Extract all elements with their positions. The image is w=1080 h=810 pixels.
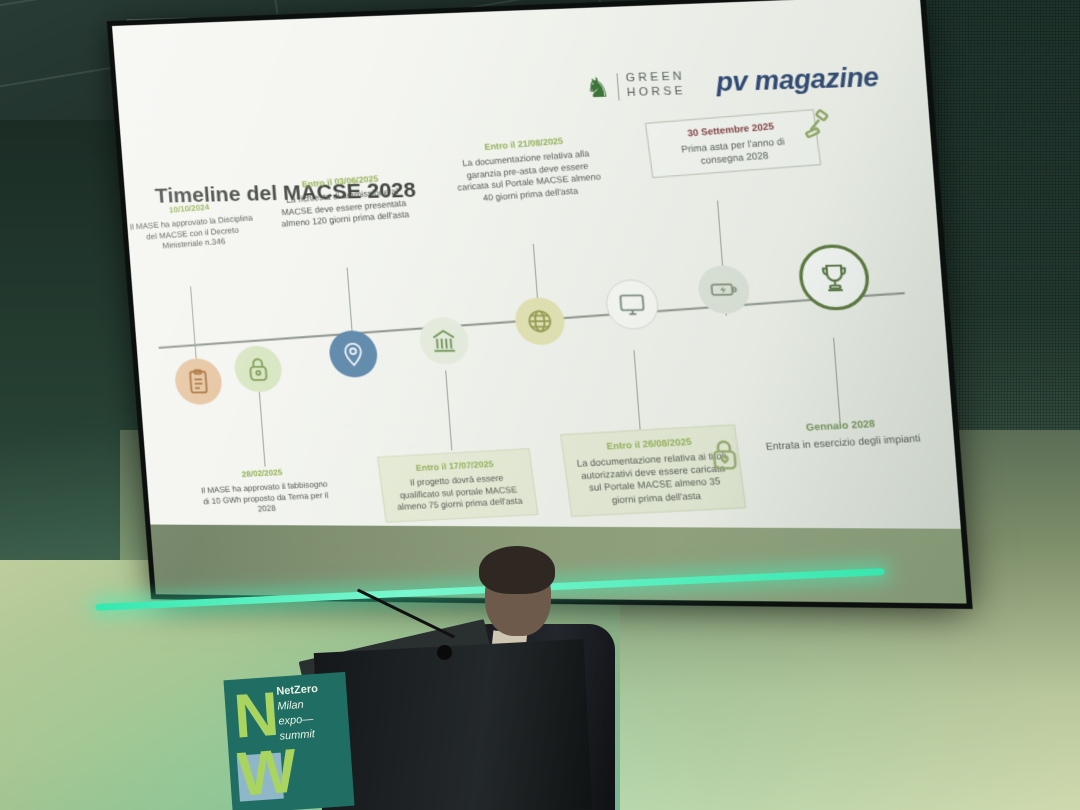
- connector-stem: [833, 338, 841, 425]
- globe-icon: [525, 308, 555, 335]
- projection-screen: ♞ GREEN HORSE pv magazine Timeline del M…: [112, 0, 967, 604]
- event-body: Il progetto dovrà essere qualificato sul…: [397, 473, 523, 512]
- slide-logos: ♞ GREEN HORSE pv magazine: [584, 63, 880, 103]
- event-caption: 30 Settembre 2025 Prima asta per l'anno …: [645, 109, 821, 178]
- podium-logo-panel: N W NetZero Milan expo— summit: [223, 672, 354, 810]
- photo-scene: ♞ GREEN HORSE pv magazine Timeline del M…: [0, 0, 1080, 810]
- podium-wordmark: NetZero Milan expo— summit: [276, 682, 322, 744]
- padlock-icon: [706, 437, 744, 476]
- pv-magazine-logo: pv magazine: [715, 63, 880, 99]
- event-body: Il MASE ha approvato la Disciplina del M…: [129, 213, 253, 251]
- green-horse-logo: ♞ GREEN HORSE: [584, 70, 687, 102]
- connector-stem: [633, 350, 640, 429]
- trophy-icon: [815, 261, 852, 294]
- event-body: La documentazione relativa alla garanzia…: [457, 148, 602, 202]
- location-pin-icon: [339, 341, 368, 368]
- monitor-icon: [617, 291, 647, 318]
- event-caption: Entro il 03/06/2025 La richiesta di ammi…: [268, 170, 418, 231]
- event-body: La richiesta di ammissione al MACSE deve…: [281, 186, 410, 229]
- event-caption: 10/10/2024 Il MASE ha approvato la Disci…: [123, 199, 261, 255]
- event-caption: 28/02/2025 Il MASE ha approvato il fabbi…: [197, 465, 333, 518]
- connector-stem: [190, 286, 197, 358]
- event-caption: Gennaio 2028 Entrata in esercizio degli …: [757, 416, 928, 455]
- timeline-node-location: [328, 330, 379, 377]
- timeline-node-lock: [233, 346, 283, 393]
- slide-canvas: ♞ GREEN HORSE pv magazine Timeline del M…: [112, 0, 961, 529]
- timeline-node-clipboard: [174, 358, 224, 404]
- event-body: Il MASE ha approvato il fabbisogno di 10…: [200, 479, 328, 514]
- green-horse-label: GREEN HORSE: [625, 70, 686, 101]
- event-body: Prima asta per l'anno di consegna 2028: [681, 136, 786, 166]
- podium-letter-w: W: [236, 748, 298, 800]
- battery-icon: [708, 276, 739, 304]
- speaker-hair: [479, 546, 555, 594]
- timeline-node-monitor: [604, 279, 660, 330]
- event-body: La documentazione relativa ai titoli aut…: [576, 450, 726, 505]
- gavel-icon: [801, 108, 840, 148]
- microphone-icon: [437, 645, 452, 660]
- connector-stem: [258, 384, 265, 467]
- chess-knight-icon: ♞: [584, 73, 611, 101]
- logo-divider: [617, 73, 620, 100]
- lock-icon: [244, 356, 272, 382]
- event-caption: Entro il 17/07/2025 Il progetto dovrà es…: [377, 448, 538, 522]
- timeline-node-globe: [514, 297, 567, 345]
- podium: [314, 639, 593, 810]
- bank-icon: [429, 327, 458, 354]
- clipboard-icon: [184, 368, 212, 394]
- connector-stem: [445, 371, 452, 451]
- event-caption: Entro il 21/08/2025 La documentazione re…: [449, 133, 606, 207]
- podium-letter-n: N: [232, 691, 280, 742]
